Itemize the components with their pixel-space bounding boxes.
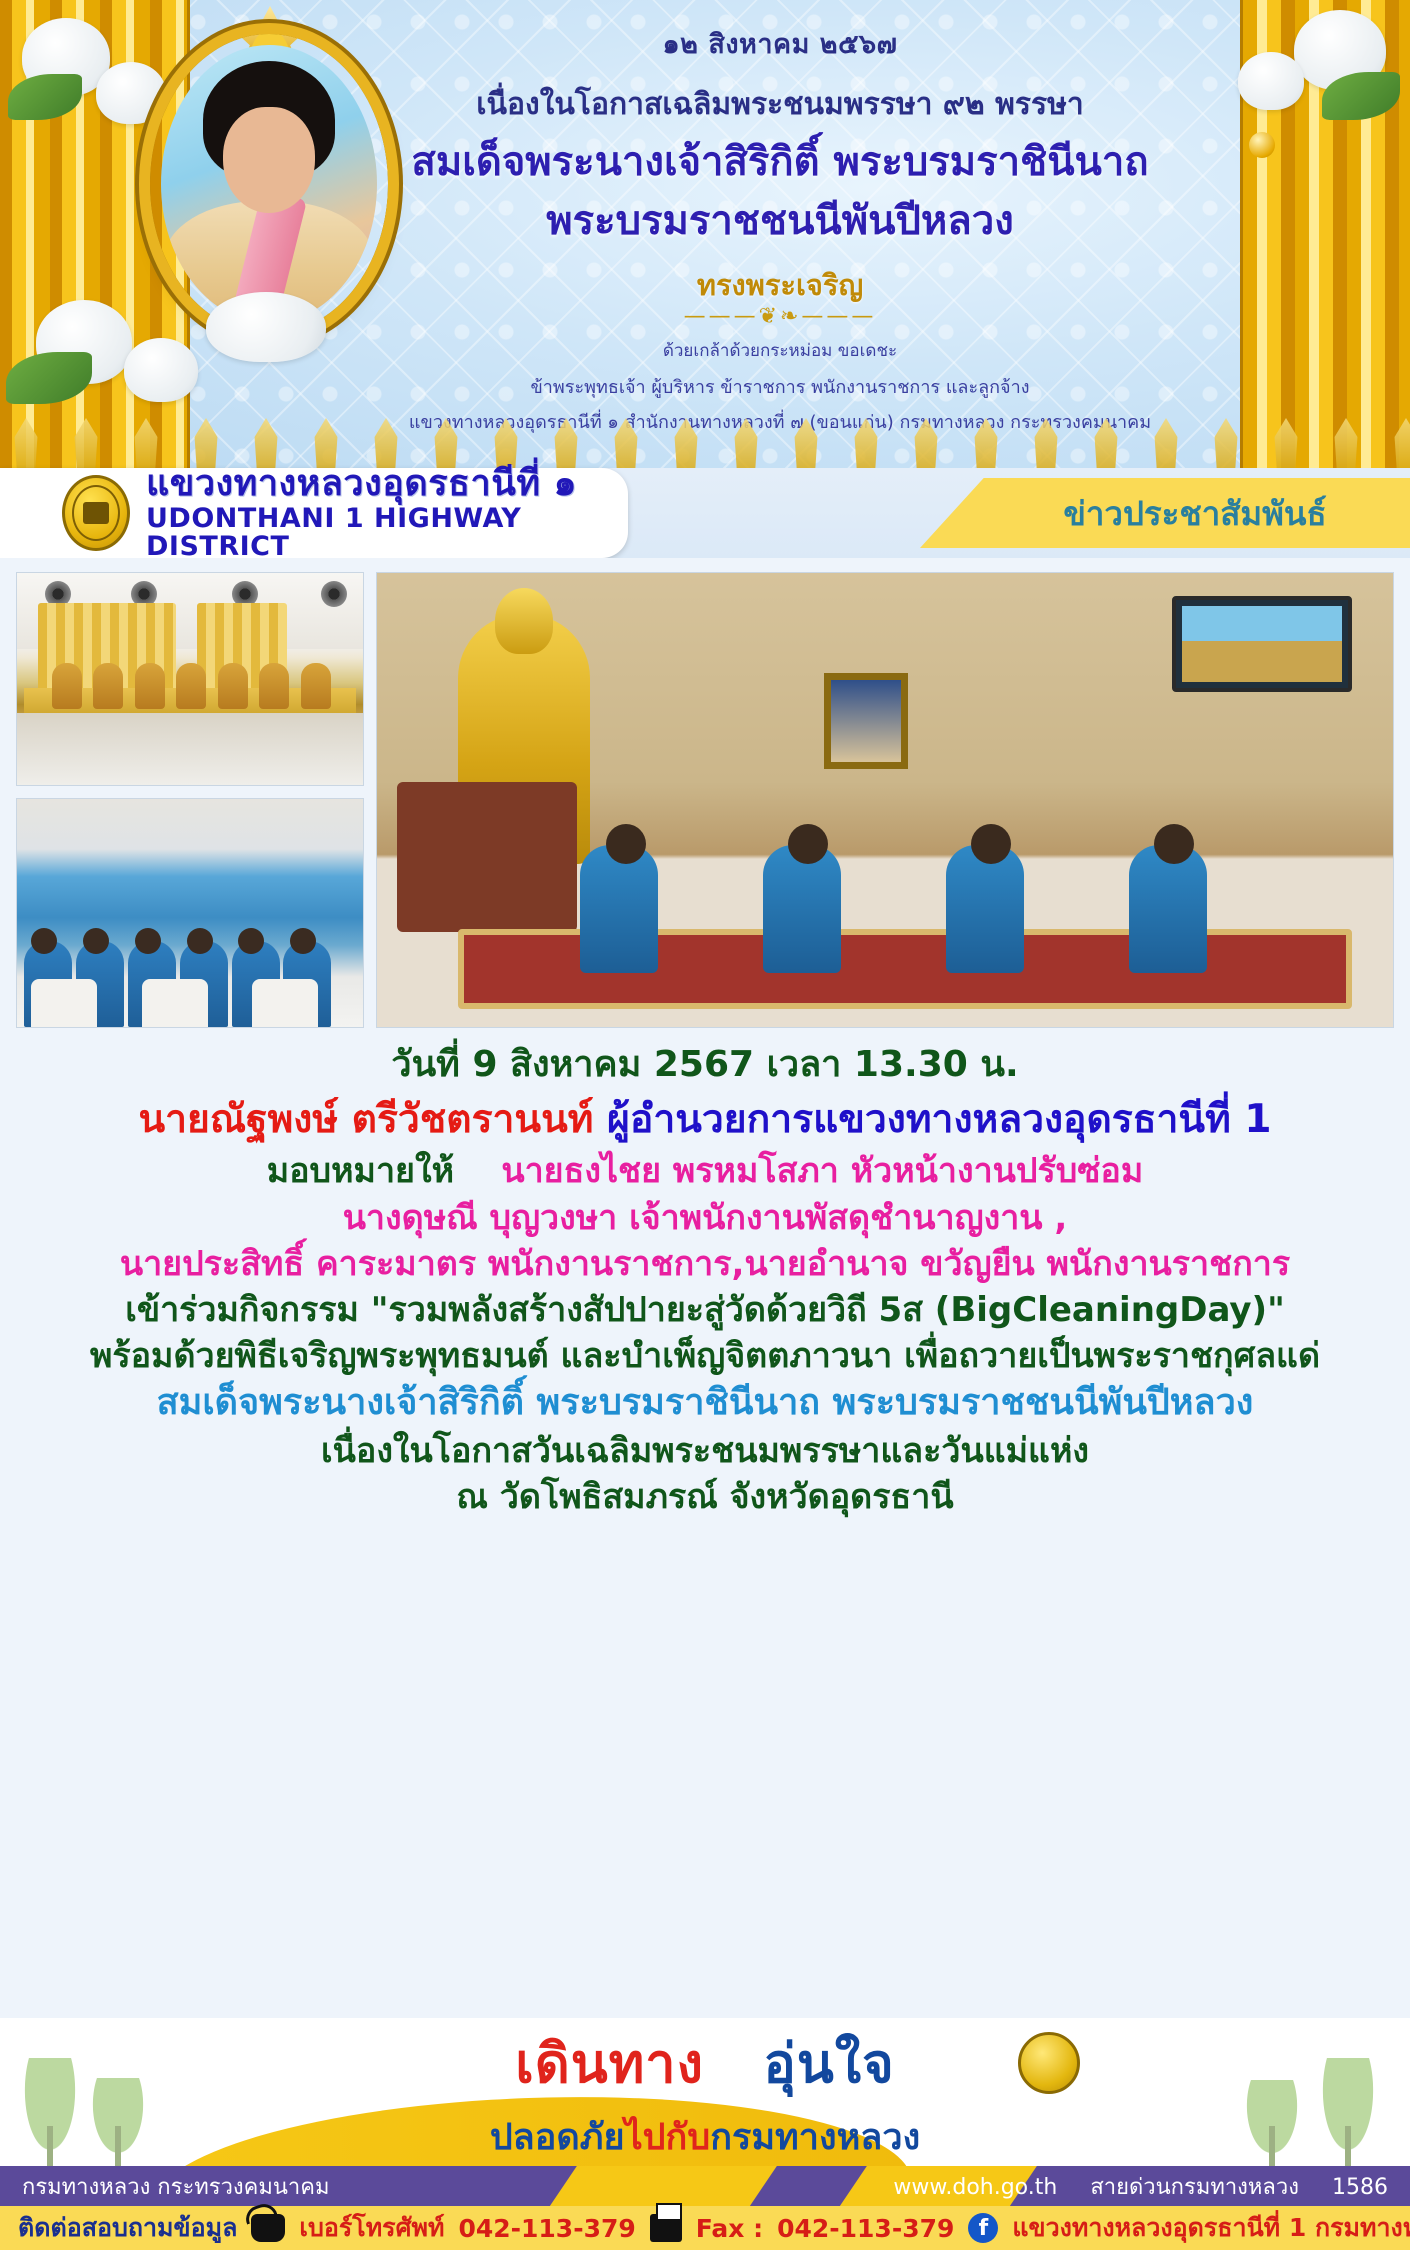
slogan-word-with: ไปกับ <box>625 2117 711 2158</box>
fax-label: Fax : <box>696 2214 763 2243</box>
doh-seal-icon <box>62 475 130 551</box>
slogan-word-comfort: อุ่นใจ <box>763 2032 894 2095</box>
tree-icon-left-1 <box>18 2058 82 2166</box>
hotline-number: 1586 <box>1332 2175 1388 2200</box>
occasion-line: เนื่องในโอกาสวันเฉลิมพระชนมพรรษาและวันแม… <box>18 1429 1392 1473</box>
website-url[interactable]: www.doh.go.th <box>893 2175 1057 2200</box>
jasmine-flower-2 <box>96 62 166 124</box>
header-thai-date: ๑๒ สิงหาคม ๒๕๖๗ <box>330 22 1230 65</box>
header-text-block: ๑๒ สิงหาคม ๒๕๖๗ เนื่องในโอกาสเฉลิมพระชนม… <box>330 22 1230 436</box>
photo-four-officials-kneeling-before-buddha[interactable] <box>376 572 1394 1028</box>
organization-bar: กรมทางหลวง กระทรวงคมนาคม www.doh.go.th ส… <box>0 2166 1410 2206</box>
header-blessing: ทรงพระเจริญ <box>330 262 1230 308</box>
fax-number: 042-113-379 <box>777 2214 954 2243</box>
district-name-card: แขวงทางหลวงอุดรธานีที่ ๑ UDONTHANI 1 HIG… <box>0 468 628 558</box>
slogan-word-safe: ปลอดภัย <box>490 2117 625 2158</box>
telephone-icon <box>251 2214 285 2242</box>
queen-name-line: สมเด็จพระนางเจ้าสิริกิติ์ พระบรมราชินีนา… <box>18 1380 1392 1427</box>
tree-icon-left-2 <box>86 2078 150 2166</box>
announcement-body: วันที่ 9 สิงหาคม 2567 เวลา 13.30 น. นายณ… <box>0 1028 1410 1520</box>
header-royal-name-2: พระบรมราชชนนีพันปีหลวง <box>330 197 1230 246</box>
director-name: นายณัฐพงษ์ ตรีวัชตรานนท์ <box>138 1097 593 1142</box>
assignment-line: มอบหมายให้ นายธงไชย พรหมโสภา หัวหน้างานป… <box>18 1149 1392 1193</box>
footer: เดินทาง อุ่นใจ ปลอดภัยไปกับกรมทางหลวง กร… <box>0 2018 1410 2250</box>
phone-number[interactable]: 042-113-379 <box>458 2214 635 2243</box>
assign-person-1: นายธงไชย พรหมโสภา หัวหน้างานปรับซ่อม <box>501 1151 1143 1191</box>
venue-line: ณ วัดโพธิสมภรณ์ จังหวัดอุดรธานี <box>18 1475 1392 1519</box>
header-occasion: เนื่องในโอกาสเฉลิมพระชนมพรรษา ๙๒ พรรษา <box>330 81 1230 128</box>
slogan-line-2: ปลอดภัยไปกับกรมทางหลวง <box>490 2108 920 2165</box>
facebook-icon[interactable]: f <box>968 2213 998 2243</box>
activity-line: เข้าร่วมกิจกรรม "รวมพลังสร้างสัปปายะสู่ว… <box>18 1288 1392 1332</box>
assign-person-3: นายประสิทธิ์ คาระมาตร พนักงานราชการ,นายอ… <box>18 1242 1392 1286</box>
hotline-label: สายด่วนกรมทางหลวง <box>1090 2175 1299 2200</box>
contact-label: ติดต่อสอบถามข้อมูล <box>18 2208 237 2248</box>
header-signatory-1: ข้าพระพุทธเจ้า ผู้บริหาร ข้าราชการ พนักง… <box>330 372 1230 401</box>
organization-name: กรมทางหลวง กระทรวงคมนาคม <box>22 2169 330 2204</box>
tree-icon-right-1 <box>1316 2058 1380 2166</box>
assign-prefix: มอบหมายให้ <box>267 1151 454 1191</box>
fax-machine-icon <box>650 2214 682 2242</box>
slogan-word-travel: เดินทาง <box>515 2032 704 2095</box>
jasmine-flower-6 <box>1238 52 1304 110</box>
jasmine-flower-4 <box>124 338 198 402</box>
doh-seal-footer-icon <box>1018 2032 1080 2094</box>
poster-page: ๑๒ สิงหาคม ๒๕๖๗ เนื่องในโอกาสเฉลิมพระชนม… <box>0 0 1410 2250</box>
phone-label: เบอร์โทรศัพท์ <box>299 2208 444 2248</box>
event-datetime: วันที่ 9 สิงหาคม 2567 เวลา 13.30 น. <box>18 1042 1392 1089</box>
press-release-ribbon: ข่าวประชาสัมพันธ์ <box>920 478 1410 548</box>
district-name-english: UDONTHANI 1 HIGHWAY DISTRICT <box>146 505 628 562</box>
director-title: ผู้อำนวยการแขวงทางหลวงอุดรธานีที่ 1 <box>607 1097 1271 1142</box>
director-line: นายณัฐพงษ์ ตรีวัชตรานนท์ ผู้อำนวยการแขวง… <box>18 1095 1392 1146</box>
gold-lotus-frieze <box>0 418 1410 468</box>
royal-celebration-header: ๑๒ สิงหาคม ๒๕๖๗ เนื่องในโอกาสเฉลิมพระชนม… <box>0 0 1410 468</box>
assign-person-2: นางดุษณี บุญวงษา เจ้าพนักงานพัสดุชำนาญงา… <box>18 1196 1392 1240</box>
portrait-base-flower <box>206 292 326 362</box>
header-royal-name-1: สมเด็จพระนางเจ้าสิริกิติ์ พระบรมราชินีนา… <box>330 138 1230 187</box>
slogan-word-doh: กรมทางหลวง <box>710 2117 920 2158</box>
slogan-line-1: เดินทาง อุ่นใจ <box>490 2020 920 2106</box>
photo-collage <box>0 558 1410 1028</box>
press-release-label: ข่าวประชาสัมพันธ์ <box>1063 487 1326 540</box>
slogan-banner: เดินทาง อุ่นใจ ปลอดภัยไปกับกรมทางหลวง <box>0 2018 1410 2166</box>
photo-staff-audience-blue-shirts[interactable] <box>16 798 364 1028</box>
photo-monks-chanting-hall[interactable] <box>16 572 364 786</box>
gold-swirl-divider-icon: ———❦❧——— <box>330 308 1230 326</box>
district-banner: ข่าวประชาสัมพันธ์ แขวงทางหลวงอุดรธานีที่… <box>0 468 1410 558</box>
tree-icon-right-2 <box>1240 2080 1304 2166</box>
header-humble-line: ด้วยเกล้าด้วยกระหม่อม ขอเดชะ <box>330 337 1230 364</box>
district-name-thai: แขวงทางหลวงอุดรธานีที่ ๑ <box>146 465 628 503</box>
ceremony-line: พร้อมด้วยพิธีเจริญพระพุทธมนต์ และบำเพ็ญจ… <box>18 1334 1392 1378</box>
facebook-page-name[interactable]: แขวงทางหลวงอุดรธานีที่ 1 กรมทางหลวง <box>1012 2208 1410 2248</box>
contact-bar: ติดต่อสอบถามข้อมูล เบอร์โทรศัพท์ 042-113… <box>0 2206 1410 2250</box>
